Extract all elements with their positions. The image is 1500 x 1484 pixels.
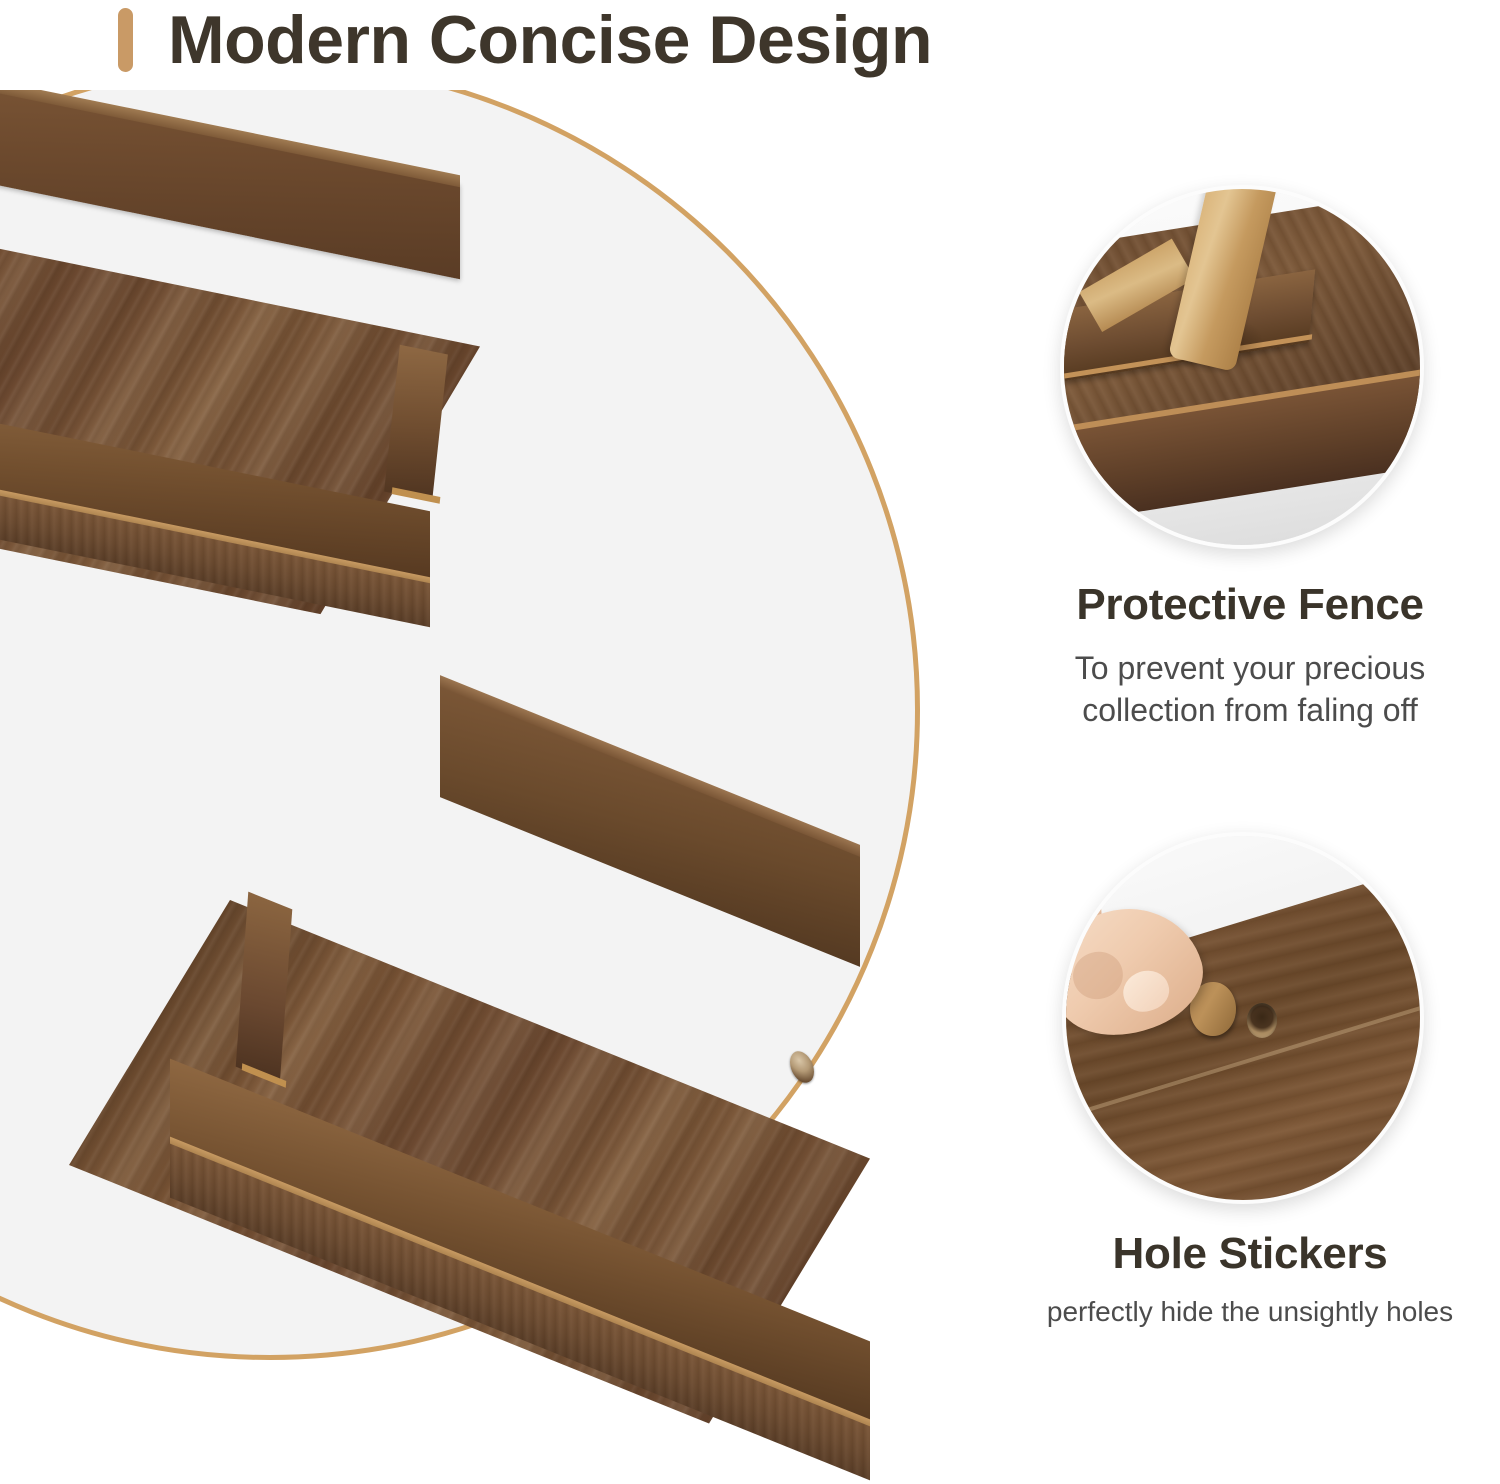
page-title: Modern Concise Design <box>168 0 932 86</box>
product-infographic-page: Modern Concise Design <box>0 0 1500 1484</box>
hole-stickers-description: perfectly hide the unsightly holes <box>1000 1294 1500 1330</box>
hero-product-photo <box>0 90 960 1484</box>
protective-fence-photo <box>1060 185 1424 549</box>
lower-shelf <box>190 780 950 1484</box>
upper-shelf <box>0 110 700 730</box>
hole-stickers-photo <box>1062 832 1424 1204</box>
protective-fence-description-line-1: To prevent your precious <box>1000 647 1500 689</box>
lower-shelf-mounting-hole <box>790 1047 814 1087</box>
shelf-scene <box>0 90 960 1484</box>
protective-fence-description: To prevent your precious collection from… <box>1000 647 1500 731</box>
protective-fence-title: Protective Fence <box>1000 581 1500 629</box>
photo2-mounting-hole <box>1247 1003 1277 1038</box>
header-accent-bar <box>118 8 133 72</box>
protective-fence-photo-scene <box>1064 189 1420 545</box>
page-header: Modern Concise Design <box>0 0 1500 100</box>
upper-shelf-back-lip <box>0 90 460 279</box>
hole-stickers-title: Hole Stickers <box>1000 1230 1500 1278</box>
hole-stickers-photo-scene <box>1066 836 1420 1200</box>
protective-fence-description-line-2: collection from faling off <box>1000 689 1500 731</box>
